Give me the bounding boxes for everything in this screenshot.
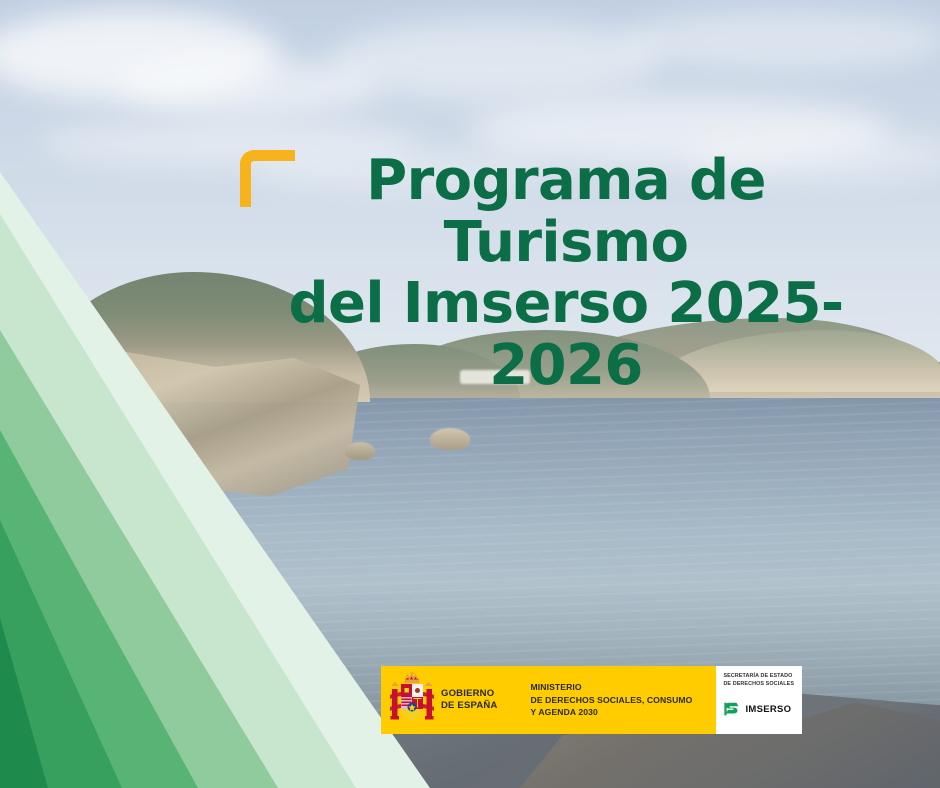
institutional-logo-bar: GOBIERNO DE ESPAÑA MINISTERIO DE DERECHO… (381, 666, 802, 734)
government-of-spain-logo: GOBIERNO DE ESPAÑA MINISTERIO DE DERECHO… (381, 666, 716, 734)
gobierno-de-espana-text: GOBIERNO DE ESPAÑA (441, 688, 502, 712)
page-title: Programa de Turismo del Imserso 2025-202… (240, 150, 880, 396)
ministry-text: MINISTERIO DE DERECHOS SOCIALES, CONSUMO… (531, 681, 707, 718)
secretariat-imserso-panel: SECRETARÍA DE ESTADO DE DERECHOS SOCIALE… (716, 666, 802, 734)
imserso-wordmark: IMSERSO (745, 704, 791, 715)
imserso-logo: IMSERSO (723, 700, 796, 718)
secretariat-text: SECRETARÍA DE ESTADO DE DERECHOS SOCIALE… (723, 672, 796, 688)
poster: Programa de Turismo del Imserso 2025-202… (0, 0, 940, 788)
corner-bracket-icon (240, 150, 295, 207)
spain-coat-of-arms-icon (389, 672, 435, 728)
title-block: Programa de Turismo del Imserso 2025-202… (240, 150, 880, 396)
imserso-mark-icon (723, 700, 741, 718)
